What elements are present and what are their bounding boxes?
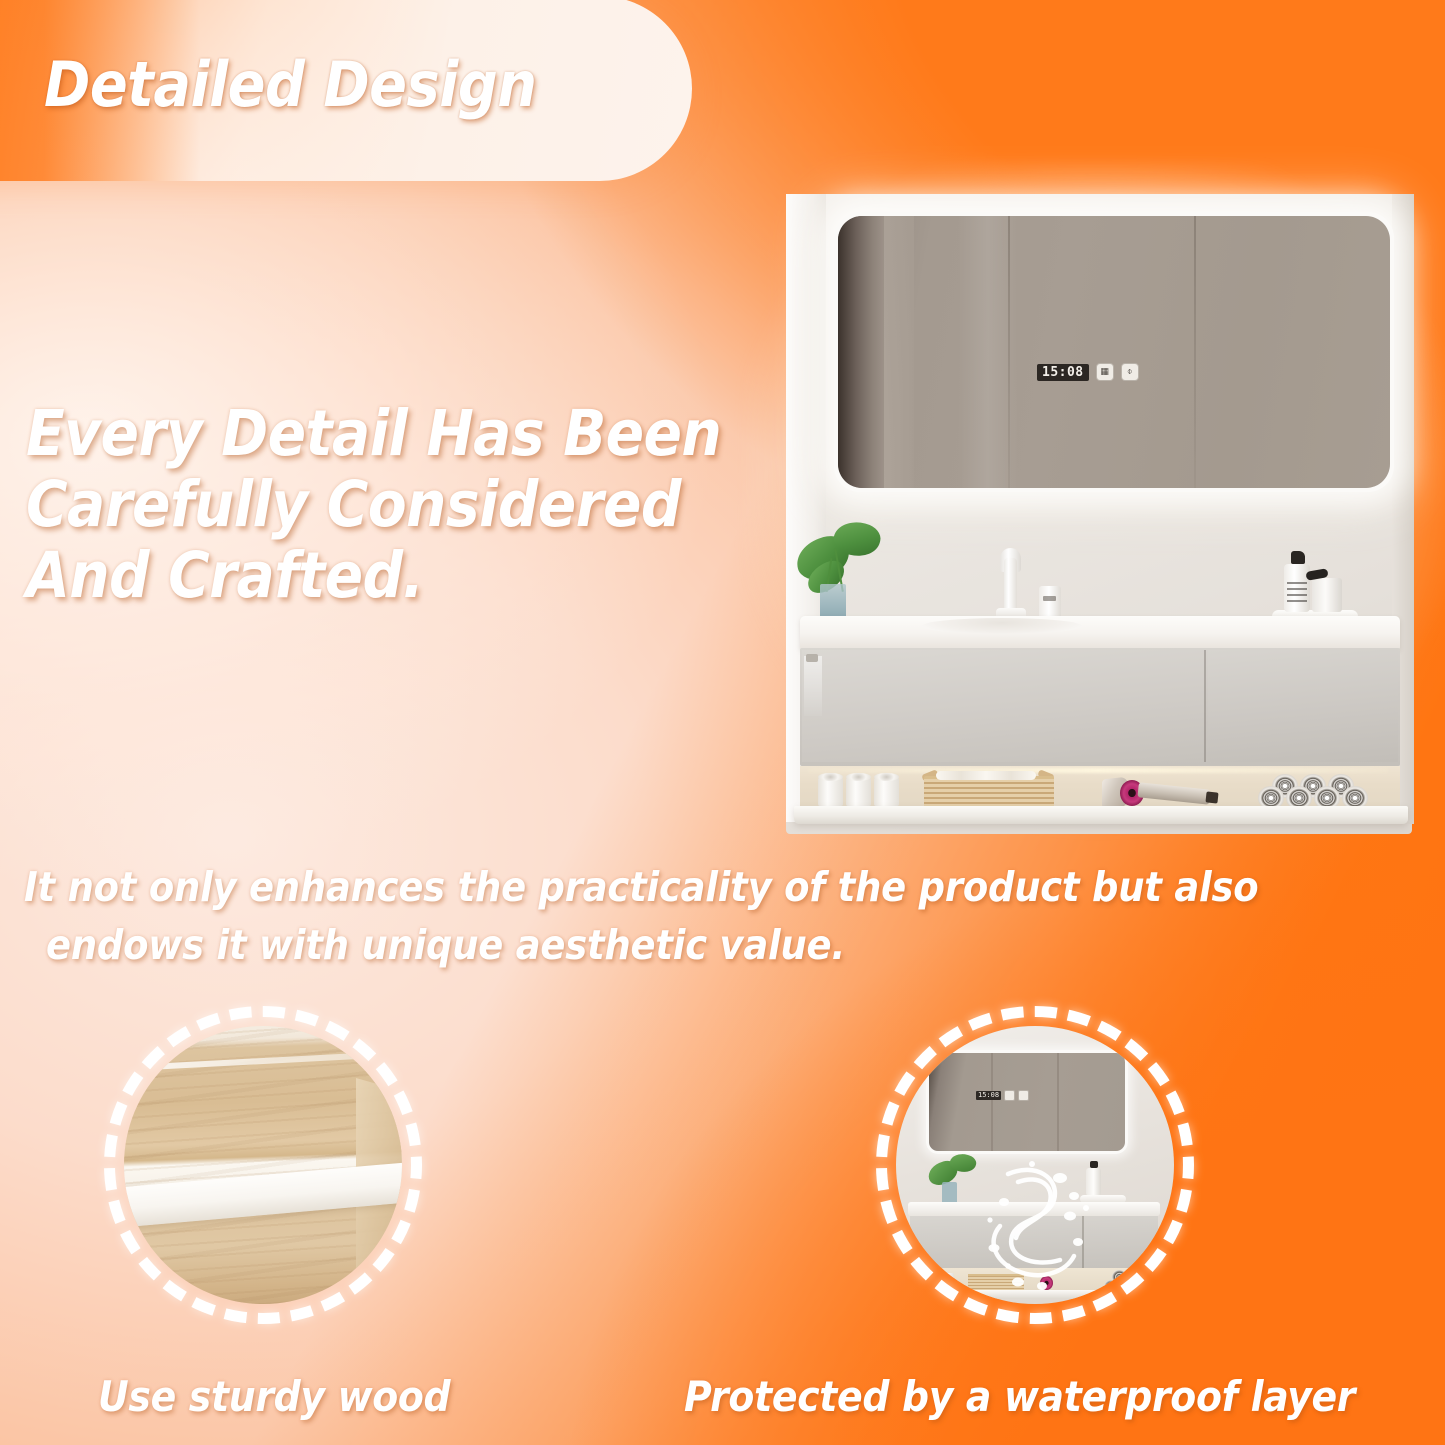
mirror-control-panel: 15:08 ▦ ⌽ [1037,363,1139,381]
light-power-button[interactable]: ⌽ [1121,363,1139,381]
toilet-paper-roll [846,778,871,806]
product-detail-poster: Detailed Design Every Detail Has Been Ca… [0,0,1445,1445]
mirror-cabinet-glass [838,216,1390,488]
caption-sturdy-wood: Use sturdy wood [98,1372,450,1421]
headline-line-3: And Crafted. [26,539,423,612]
callout-sturdy-wood [104,1006,422,1324]
mirror-panel-seam-2 [1194,216,1196,488]
caption-waterproof-layer: Protected by a waterproof layer [684,1372,1355,1421]
secondary-dispenser [1312,578,1342,612]
shelf-led-strip [808,768,1388,773]
cabinet-drawer-left [802,650,1206,762]
woven-basket [924,776,1054,809]
basket-contents [936,771,1036,780]
page-title: Detailed Design [44,48,536,121]
clock-display: 15:08 [1037,364,1089,381]
headline: Every Detail Has Been Carefully Consider… [26,398,816,612]
callout-waterproof-layer: 15:08 [876,1006,1194,1324]
shelf-board [794,806,1408,824]
integrated-basin [922,618,1082,634]
toilet-paper-roll [818,778,843,806]
headline-line-1: Every Detail Has Been [26,397,721,470]
drawer-hinge-clip [806,654,818,662]
body-line-2: endows it with unique aesthetic value. [24,916,1444,974]
defogger-button[interactable]: ▦ [1096,363,1114,381]
drawer-hinge-highlight [804,656,822,716]
countertop [800,616,1400,650]
dashed-circle-border [876,1006,1194,1324]
mirror-reflection-mid [884,216,914,488]
mirror-panel-seam-1 [1008,216,1010,488]
hero-product-image: 15:08 ▦ ⌽ [772,186,1424,834]
headline-line-2: Carefully Considered [26,468,681,541]
small-soap-dispenser [1039,586,1061,620]
body-paragraph: It not only enhances the practicality of… [24,858,1444,974]
body-line-1: It not only enhances the practicality of… [24,863,1258,911]
cabinet-drawer-right [1208,650,1398,762]
dashed-circle-border [104,1006,422,1324]
hair-dryer-tip [1205,791,1218,803]
toilet-paper-roll [874,778,899,806]
soap-dispenser-label [1287,580,1307,602]
mirror-reflection-dark [838,216,884,488]
